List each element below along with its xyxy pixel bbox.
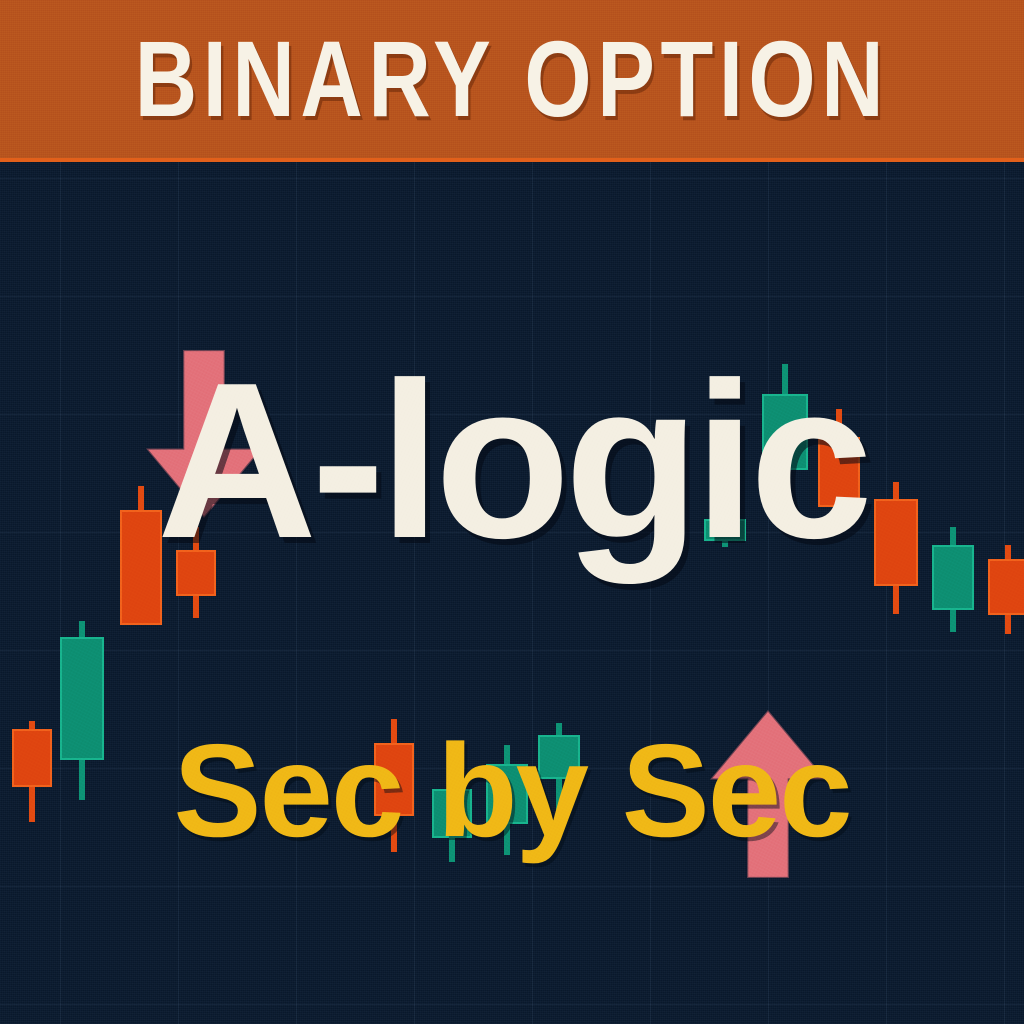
banner: BINARY OPTION (0, 0, 1024, 162)
banner-title: BINARY OPTION (102, 0, 921, 158)
cover-artwork: BINARY OPTION A-logic Sec by Sec (0, 0, 1024, 1024)
page-title: A-logic (0, 350, 1024, 572)
candlestick-chart: A-logic Sec by Sec (0, 162, 1024, 1024)
page-subtitle: Sec by Sec (0, 725, 1024, 857)
